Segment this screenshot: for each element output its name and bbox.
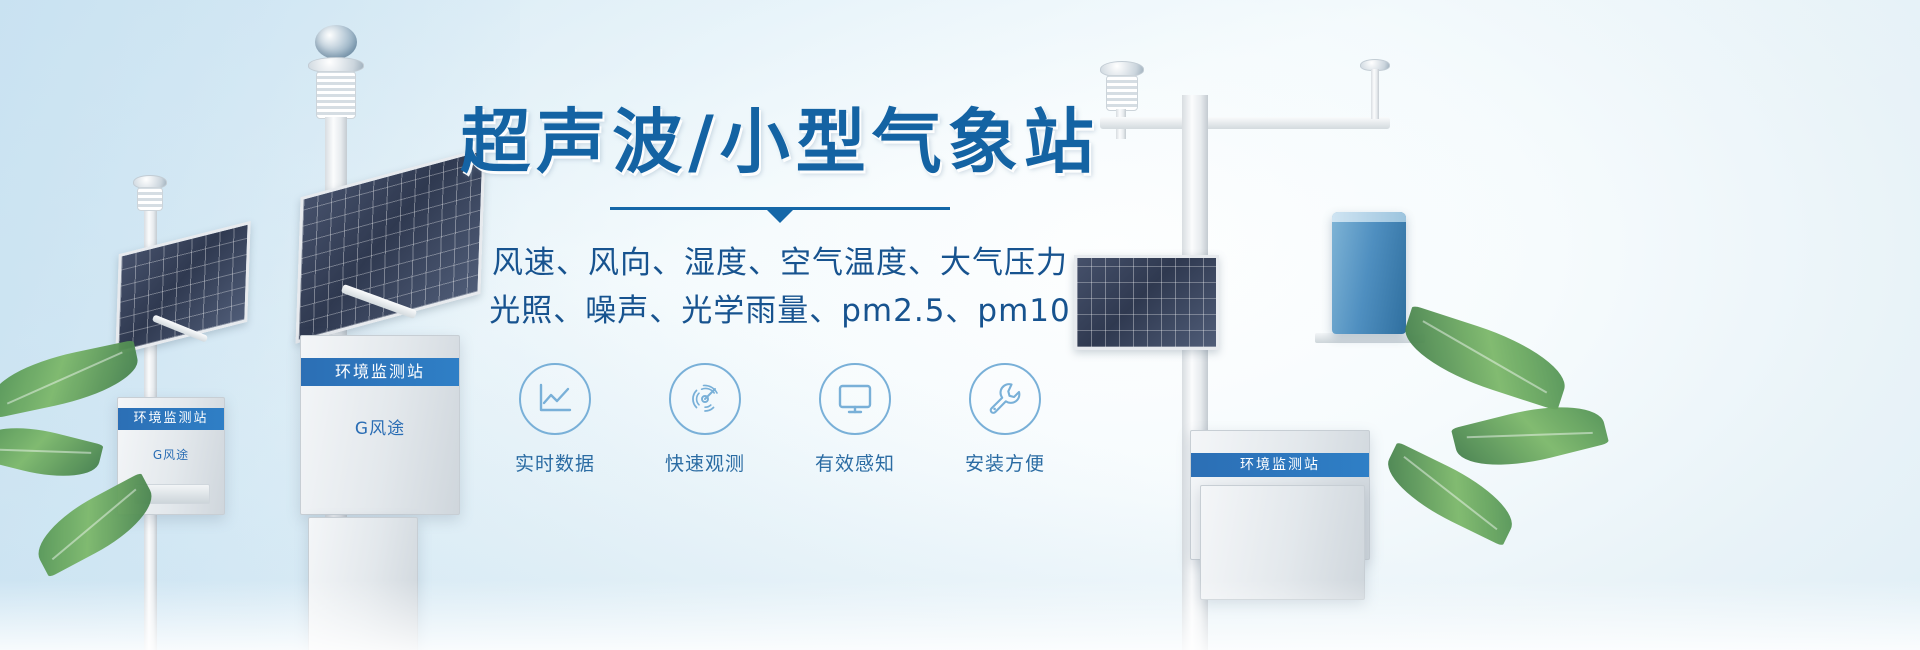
feature-icon-circle: [669, 363, 741, 435]
feature-label: 有效感知: [800, 449, 910, 476]
product-banner: 环境监测站 G风途 环境监测站 G风途: [0, 0, 1920, 650]
brand-logo-text: G风途: [301, 414, 459, 439]
cabinet-label-text: 环境监测站: [1191, 456, 1369, 474]
decor-leaf-right-1: [1396, 305, 1575, 411]
decor-leaf-left-2: [0, 416, 104, 488]
feature-icon-circle: [819, 363, 891, 435]
optical-dome-icon: [315, 25, 357, 59]
brand-name-text: 风途: [163, 448, 189, 462]
brand-name-text: 风途: [369, 419, 405, 439]
feature-item-realtime-data[interactable]: 实时数据: [500, 363, 610, 476]
monitor-display-icon: [836, 382, 874, 416]
page-title: 超声波/小型气象站: [440, 105, 1120, 181]
line-chart-icon: [536, 382, 574, 416]
decor-leaf-right-2: [1451, 393, 1609, 480]
feature-icon-circle: [519, 363, 591, 435]
cabinet-label-text: 环境监测站: [301, 362, 459, 382]
feature-label: 安装方便: [950, 449, 1060, 476]
rain-gauge-funnel: [1332, 212, 1406, 222]
equipment-cabinet: 环境监测站 G风途: [300, 335, 460, 515]
optical-rain-gauge: [1332, 212, 1406, 334]
wrench-tool-icon: [986, 380, 1024, 418]
feature-icon-circle: [969, 363, 1041, 435]
feature-item-easy-installation[interactable]: 安装方便: [950, 363, 1060, 476]
title-divider: [610, 207, 950, 225]
weather-station-left-small: 环境监测站 G风途: [95, 175, 280, 650]
sensor-stack: [137, 187, 163, 211]
brand-mark-icon: G: [355, 419, 369, 439]
solar-panel: [115, 221, 250, 355]
brand-logo-text: G风途: [118, 446, 224, 463]
feature-list: 实时数据 快速观测: [440, 363, 1120, 476]
lower-enclosure: [308, 517, 418, 650]
feature-item-effective-sensing[interactable]: 有效感知: [800, 363, 910, 476]
chevron-down-icon: [767, 210, 793, 223]
feature-label: 快速观测: [650, 449, 760, 476]
anemometer-stem: [1371, 69, 1379, 119]
feature-label: 实时数据: [500, 449, 610, 476]
banner-content: 超声波/小型气象站 风速、风向、湿度、空气温度、大气压力 光照、噪声、光学雨量、…: [440, 105, 1120, 476]
feature-item-quick-observation[interactable]: 快速观测: [650, 363, 760, 476]
subtitle-line-2: 光照、噪声、光学雨量、pm2.5、pm10: [440, 287, 1120, 335]
sensor-stack: [316, 71, 356, 119]
cross-arm: [1100, 117, 1390, 129]
lower-enclosure: [1200, 485, 1365, 600]
cabinet-label-text: 环境监测站: [118, 411, 224, 427]
brand-mark-icon: G: [153, 448, 163, 462]
radar-scan-icon: [686, 380, 724, 418]
subtitle-line-1: 风速、风向、湿度、空气温度、大气压力: [440, 239, 1120, 287]
